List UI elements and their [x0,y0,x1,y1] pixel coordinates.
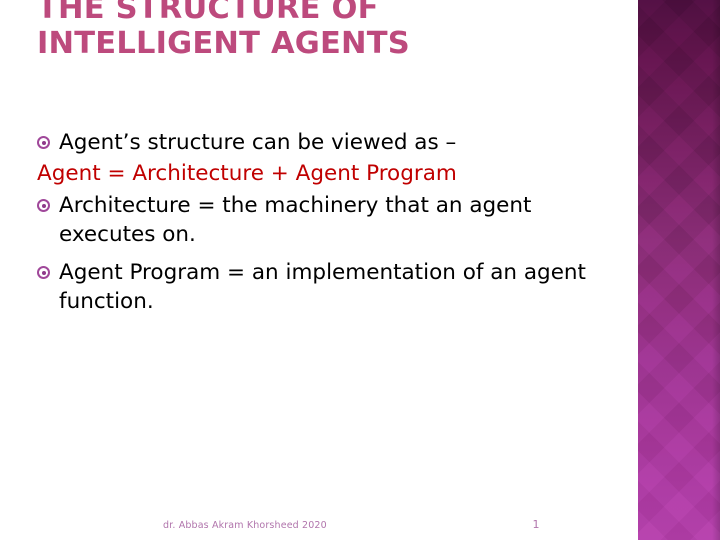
bullet-item-text: Architecture = the machinery that an age… [59,191,607,249]
bullet-item: Architecture = the machinery that an age… [37,191,607,249]
bullet-item: Agent Program = an implementation of an … [37,258,607,316]
slide-page-number: 1 [530,518,542,531]
target-dot-bullet-icon [37,136,50,149]
slide-title: The Structure of Intelligent Agents [37,0,597,61]
bullet-item-text: Agent’s structure can be viewed as – [59,128,607,157]
footer-author-note: dr. Abbas Akram Khorsheed 2020 [163,520,327,531]
bullet-item: Agent’s structure can be viewed as – [37,128,607,157]
slide-body: Agent’s structure can be viewed as – Age… [37,128,607,318]
right-gradient-panel [638,0,720,540]
slide-canvas: The Structure of Intelligent Agents Agen… [0,0,720,540]
target-dot-bullet-icon [37,266,50,279]
target-dot-bullet-icon [37,199,50,212]
diamond-pattern-overlay [638,0,720,540]
emphasis-line-text: Agent = Architecture + Agent Program [37,159,607,188]
emphasis-line: Agent = Architecture + Agent Program [37,159,607,188]
bullet-item-text: Agent Program = an implementation of an … [59,258,607,316]
bullet-spacer [37,251,607,258]
panel-right-edge-shadow [712,0,720,540]
